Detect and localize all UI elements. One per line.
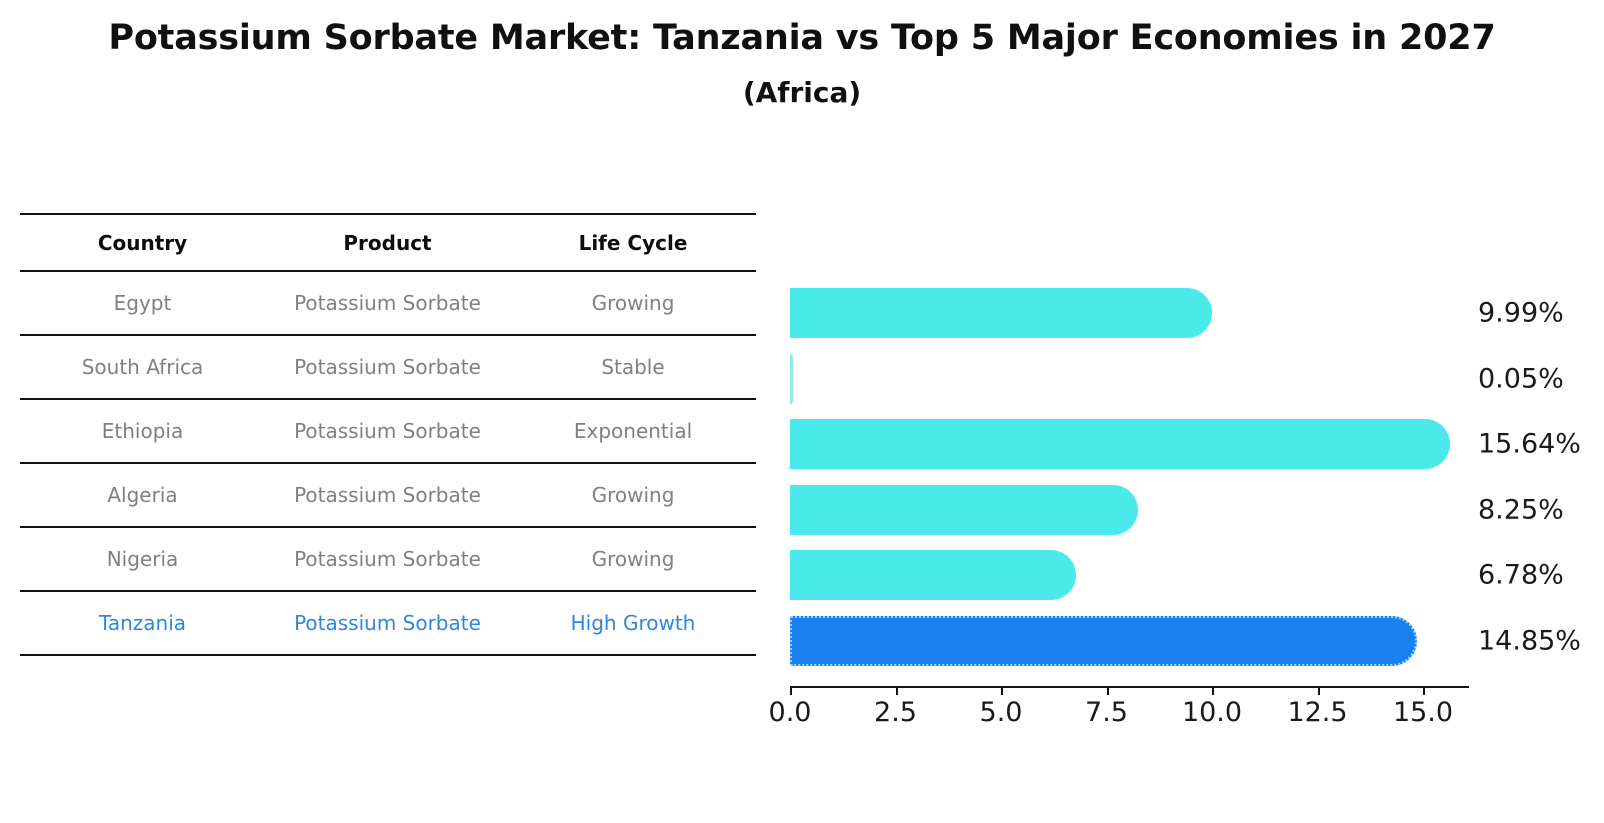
table-body: EgyptPotassium SorbateGrowingSouth Afric… bbox=[20, 271, 756, 655]
table-header-row: Country Product Life Cycle bbox=[20, 214, 756, 271]
bar-value-label: 14.85% bbox=[1478, 625, 1581, 656]
x-axis-tick bbox=[1212, 686, 1214, 695]
table-row: NigeriaPotassium SorbateGrowing bbox=[20, 527, 756, 591]
x-axis-tick bbox=[1423, 686, 1425, 695]
column-header-country: Country bbox=[20, 214, 265, 271]
cell-product: Potassium Sorbate bbox=[265, 399, 510, 463]
x-axis-tick-label: 15.0 bbox=[1393, 697, 1453, 728]
country-table: Country Product Life Cycle EgyptPotassiu… bbox=[20, 213, 756, 656]
bar-value-label: 8.25% bbox=[1478, 494, 1564, 525]
bar-value-label: 6.78% bbox=[1478, 560, 1564, 591]
cell-product: Potassium Sorbate bbox=[265, 463, 510, 527]
x-axis-line bbox=[790, 686, 1469, 688]
page-title: Potassium Sorbate Market: Tanzania vs To… bbox=[0, 8, 1604, 118]
cell-life-cycle: Stable bbox=[510, 335, 756, 399]
cell-country: South Africa bbox=[20, 335, 265, 399]
table-header: Country Product Life Cycle bbox=[20, 214, 756, 271]
bar-value-label: 15.64% bbox=[1478, 429, 1581, 460]
cell-product: Potassium Sorbate bbox=[265, 591, 510, 655]
chart-page: Potassium Sorbate Market: Tanzania vs To… bbox=[0, 0, 1604, 823]
x-axis-tick-label: 5.0 bbox=[980, 697, 1023, 728]
x-axis-tick bbox=[1001, 686, 1003, 695]
x-axis-tick-label: 7.5 bbox=[1085, 697, 1128, 728]
cell-life-cycle: Growing bbox=[510, 463, 756, 527]
column-header-life-cycle: Life Cycle bbox=[510, 214, 756, 271]
cell-country: Tanzania bbox=[20, 591, 265, 655]
cell-country: Algeria bbox=[20, 463, 265, 527]
bar-algeria bbox=[790, 485, 1138, 535]
x-axis-tick bbox=[896, 686, 898, 695]
title-line-1: Potassium Sorbate Market: Tanzania vs To… bbox=[0, 8, 1604, 68]
bar-tanzania bbox=[790, 616, 1417, 666]
column-header-product: Product bbox=[265, 214, 510, 271]
x-axis-tick bbox=[1107, 686, 1109, 695]
bar-egypt bbox=[790, 288, 1212, 338]
country-table-wrapper: Country Product Life Cycle EgyptPotassiu… bbox=[20, 213, 756, 656]
x-axis-tick-label: 12.5 bbox=[1287, 697, 1347, 728]
bar-value-label: 0.05% bbox=[1478, 363, 1564, 394]
x-axis-tick-label: 0.0 bbox=[769, 697, 812, 728]
bar-nigeria bbox=[790, 550, 1076, 600]
table-row: EthiopiaPotassium SorbateExponential bbox=[20, 399, 756, 463]
table-row: South AfricaPotassium SorbateStable bbox=[20, 335, 756, 399]
title-line-2: (Africa) bbox=[0, 68, 1604, 118]
x-axis-tick bbox=[1318, 686, 1320, 695]
cell-product: Potassium Sorbate bbox=[265, 271, 510, 335]
cell-country: Ethiopia bbox=[20, 399, 265, 463]
bar-value-label: 9.99% bbox=[1478, 298, 1564, 329]
x-axis-tick bbox=[790, 686, 792, 695]
x-axis-tick-label: 2.5 bbox=[874, 697, 917, 728]
table-row: EgyptPotassium SorbateGrowing bbox=[20, 271, 756, 335]
cell-life-cycle: Exponential bbox=[510, 399, 756, 463]
bar-south-africa bbox=[790, 354, 793, 404]
cell-country: Egypt bbox=[20, 271, 265, 335]
bar-ethiopia bbox=[790, 419, 1450, 469]
table-row: AlgeriaPotassium SorbateGrowing bbox=[20, 463, 756, 527]
cell-product: Potassium Sorbate bbox=[265, 335, 510, 399]
cell-country: Nigeria bbox=[20, 527, 265, 591]
cell-life-cycle: High Growth bbox=[510, 591, 756, 655]
x-axis-tick-label: 10.0 bbox=[1182, 697, 1242, 728]
cell-product: Potassium Sorbate bbox=[265, 527, 510, 591]
cell-life-cycle: Growing bbox=[510, 527, 756, 591]
cell-life-cycle: Growing bbox=[510, 271, 756, 335]
table-row: TanzaniaPotassium SorbateHigh Growth bbox=[20, 591, 756, 655]
